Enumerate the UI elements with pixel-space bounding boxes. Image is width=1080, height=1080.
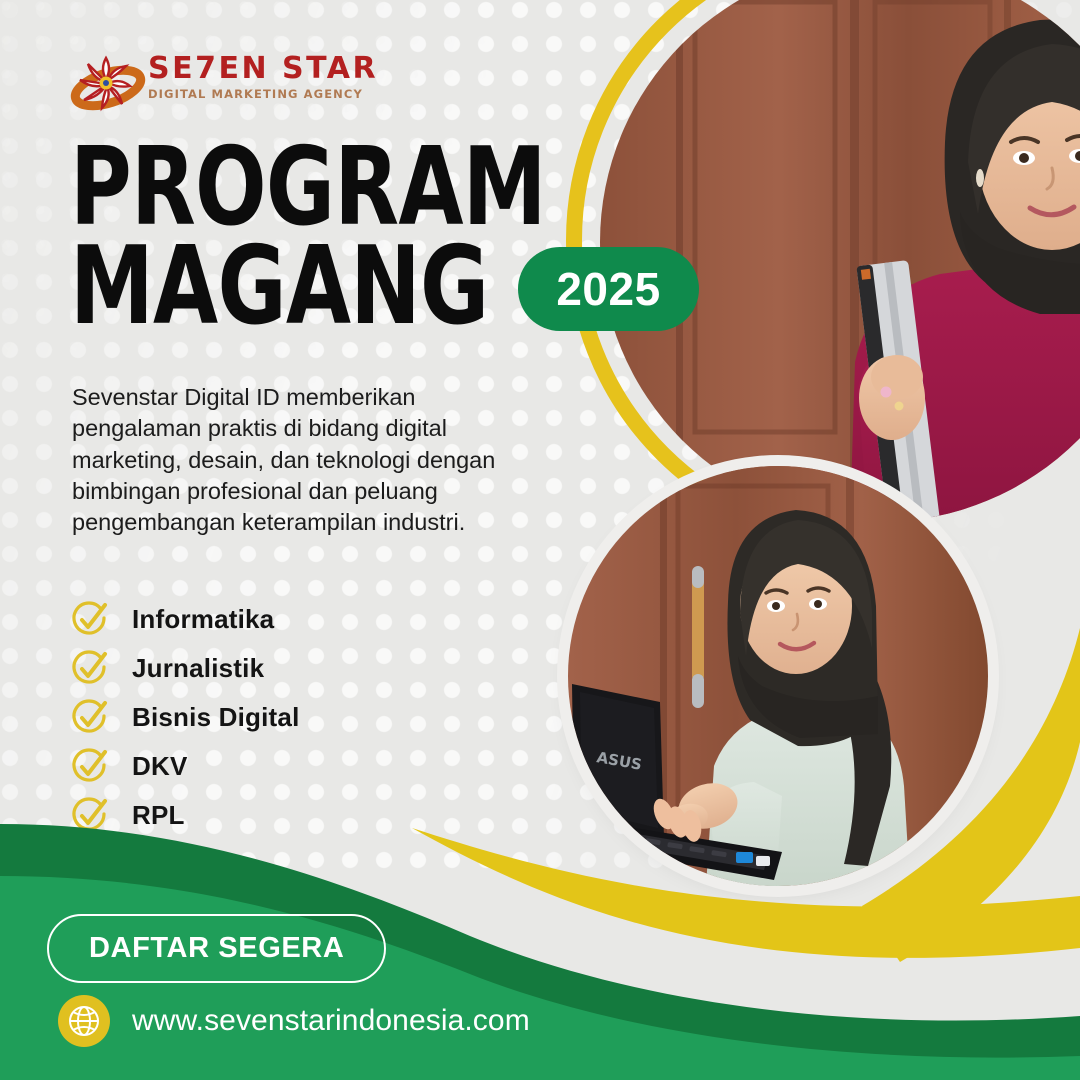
check-circle-icon: [70, 649, 110, 689]
list-item-label: Informatika: [132, 604, 274, 635]
check-circle-icon: [70, 600, 110, 640]
list-item-label: Bisnis Digital: [132, 702, 300, 733]
brand-logo: SE7EN STAR DIGITAL MARKETING AGENCY: [68, 50, 388, 120]
program-description: Sevenstar Digital ID memberikan pengalam…: [72, 382, 502, 538]
list-item-label: Jurnalistik: [132, 653, 264, 684]
poster-canvas: ASUS: [0, 0, 1080, 1080]
list-item: Informatika: [70, 595, 300, 644]
globe-icon: [58, 995, 110, 1047]
list-item: Jurnalistik: [70, 644, 300, 693]
register-button[interactable]: DAFTAR SEGERA: [47, 914, 386, 983]
starburst-flower-icon: [68, 52, 146, 116]
website-url: www.sevenstarindonesia.com: [132, 1004, 530, 1038]
check-circle-icon: [70, 698, 110, 738]
list-item: Bisnis Digital: [70, 693, 300, 742]
brand-tagline: DIGITAL MARKETING AGENCY: [148, 89, 378, 101]
headline-line-1: PROGRAM: [70, 138, 560, 237]
website-link[interactable]: www.sevenstarindonesia.com: [58, 995, 530, 1047]
list-item-label: DKV: [132, 751, 188, 782]
headline-block: PROGRAM MAGANG 2025: [70, 138, 699, 337]
year-badge-2025: 2025: [518, 247, 698, 331]
headline-line-2: MAGANG: [70, 237, 488, 336]
brand-name: SE7EN STAR: [148, 54, 378, 84]
